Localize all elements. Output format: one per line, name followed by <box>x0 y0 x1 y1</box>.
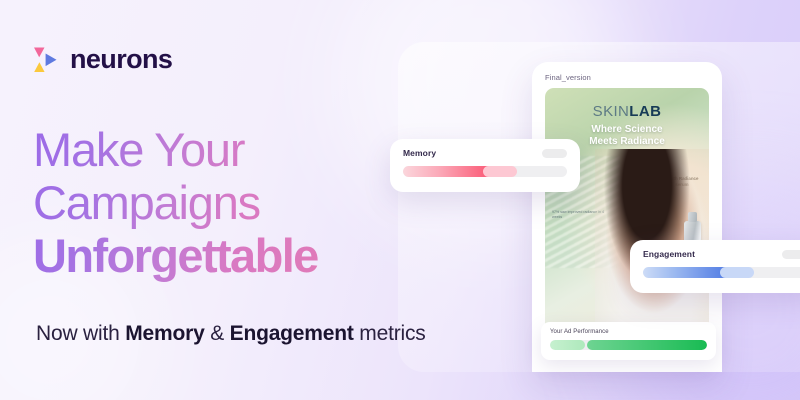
headline-line-1: Make Your <box>33 123 244 176</box>
ad-performance-label: Your Ad Performance <box>550 329 707 335</box>
ad-performance-segment-light <box>550 340 585 350</box>
promo-banner: neurons Make Your Campaigns Unforgettabl… <box>0 0 800 400</box>
memory-value-pill[interactable] <box>542 149 567 158</box>
memory-label: Memory <box>403 148 436 158</box>
creative-tagline-line-1: Where Science <box>591 124 662 135</box>
ad-file-label: Final_version <box>545 73 722 82</box>
page-title: Make Your Campaigns Unforgettable <box>33 123 318 282</box>
subheading-suffix: metrics <box>354 322 426 345</box>
ad-creative: SKINLAB Where Science Meets Radiance 97%… <box>545 88 709 331</box>
engagement-metric-card[interactable]: Engagement <box>630 240 800 293</box>
subheading: Now with Memory & Engagement metrics <box>36 322 426 346</box>
memory-progress-knob[interactable] <box>483 166 517 177</box>
memory-metric-card[interactable]: Memory <box>390 139 580 192</box>
creative-brand: SKINLAB <box>545 103 709 120</box>
headline-line-3: Unforgettable <box>33 229 318 282</box>
creative-brand-light: SKIN <box>593 103 630 120</box>
neurons-play-triangles-icon <box>31 45 61 75</box>
memory-card-header: Memory <box>390 139 580 158</box>
subheading-memory: Memory <box>125 322 204 345</box>
subheading-amp: & <box>205 322 230 345</box>
engagement-progress-track[interactable] <box>643 267 800 278</box>
engagement-progress-knob[interactable] <box>720 267 754 278</box>
subheading-prefix: Now with <box>36 322 125 345</box>
ad-performance-segment-main <box>587 340 707 350</box>
creative-tagline-line-2: Meets Radiance <box>589 136 665 147</box>
engagement-label: Engagement <box>643 249 695 259</box>
creative-brand-bold: LAB <box>629 103 661 120</box>
engagement-card-header: Engagement <box>630 240 800 259</box>
subheading-engagement: Engagement <box>230 322 354 345</box>
ad-performance-progress[interactable] <box>550 340 707 350</box>
ad-performance-card[interactable]: Your Ad Performance <box>541 322 716 360</box>
memory-progress-track[interactable] <box>403 166 567 177</box>
engagement-value-pill[interactable] <box>782 250 800 259</box>
brand-wordmark: neurons <box>70 44 172 75</box>
brand-logo[interactable]: neurons <box>31 44 172 75</box>
headline-line-2: Campaigns <box>33 176 260 229</box>
